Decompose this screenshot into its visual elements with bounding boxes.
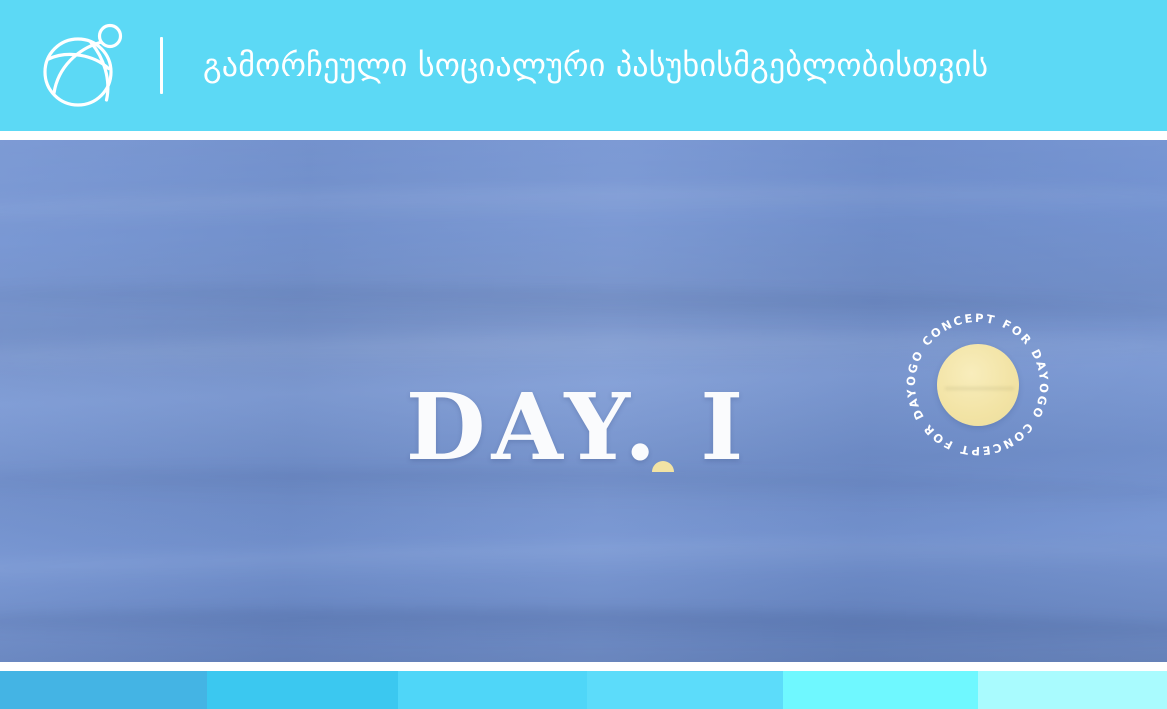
swatch-4 bbox=[587, 671, 783, 709]
swatch-3 bbox=[398, 671, 587, 709]
header-divider bbox=[160, 37, 163, 94]
swatch-5 bbox=[783, 671, 978, 709]
header-banner: გამორჩეული სოციალური პასუხისმგებლობისთვი… bbox=[0, 0, 1167, 131]
swatch-6 bbox=[978, 671, 1167, 709]
hero-image: DAY. I LOGO CONCEPT FOR DAY I LOGO CONCE… bbox=[0, 140, 1167, 662]
hero-spacer bbox=[0, 662, 1167, 671]
swatch-1 bbox=[0, 671, 207, 709]
beach-ball-icon bbox=[34, 18, 130, 114]
stamp-disc-icon bbox=[937, 344, 1019, 426]
color-palette-strip bbox=[0, 671, 1167, 709]
swatch-2 bbox=[207, 671, 398, 709]
logo-concept-stamp: LOGO CONCEPT FOR DAY I LOGO CONCEPT FOR … bbox=[895, 302, 1060, 467]
page-title: გამორჩეული სოციალური პასუხისმგებლობისთვი… bbox=[203, 48, 988, 83]
header-spacer bbox=[0, 131, 1167, 140]
